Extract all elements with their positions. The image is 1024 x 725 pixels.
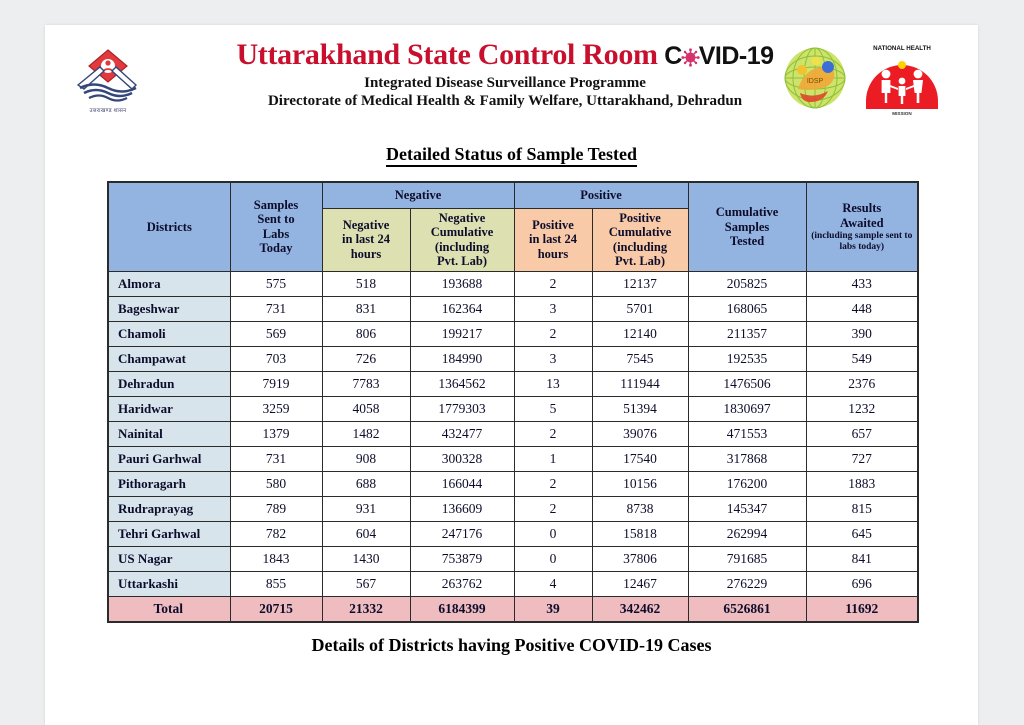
cell-pos24: 2 xyxy=(514,271,592,296)
cell-sent: 731 xyxy=(230,446,322,471)
cell-poscum: 12467 xyxy=(592,571,688,596)
cell-negcum: 193688 xyxy=(410,271,514,296)
cell-district: Haridwar xyxy=(108,396,230,421)
cell-neg24: 806 xyxy=(322,321,410,346)
col-header-results-awaited: Results Awaited (including sample sent t… xyxy=(806,182,918,271)
title-block: Uttarakhand State Control Room CVID-19 I… xyxy=(155,39,855,110)
total-cell-district: Total xyxy=(108,596,230,622)
cell-pos24: 2 xyxy=(514,421,592,446)
cell-sent: 703 xyxy=(230,346,322,371)
cell-district: Chamoli xyxy=(108,321,230,346)
cell-poscum: 5701 xyxy=(592,296,688,321)
cell-negcum: 432477 xyxy=(410,421,514,446)
col-header-negative-cumulative: Negative Cumulative (including Pvt. Lab) xyxy=(410,208,514,271)
table-row: Bageshwar73183116236435701168065448 xyxy=(108,296,918,321)
cell-negcum: 184990 xyxy=(410,346,514,371)
total-cell-awaited: 11692 xyxy=(806,596,918,622)
section-title: Detailed Status of Sample Tested xyxy=(45,144,978,165)
cell-awaited: 645 xyxy=(806,521,918,546)
table-row: Haridwar32594058177930355139418306971232 xyxy=(108,396,918,421)
cell-negcum: 1779303 xyxy=(410,396,514,421)
cell-cumtested: 1830697 xyxy=(688,396,806,421)
table-body: Almora575518193688212137205825433Bageshw… xyxy=(108,271,918,622)
total-cell-poscum: 342462 xyxy=(592,596,688,622)
cell-cumtested: 176200 xyxy=(688,471,806,496)
col-header-positive-cumulative: Positive Cumulative (including Pvt. Lab) xyxy=(592,208,688,271)
cell-pos24: 5 xyxy=(514,396,592,421)
col-header-cumulative-samples-tested: Cumulative Samples Tested xyxy=(688,182,806,271)
cell-sent: 731 xyxy=(230,296,322,321)
table-row: Pithoragarh5806881660442101561762001883 xyxy=(108,471,918,496)
cell-district: US Nagar xyxy=(108,546,230,571)
cell-sent: 569 xyxy=(230,321,322,346)
cell-pos24: 13 xyxy=(514,371,592,396)
cell-pos24: 0 xyxy=(514,546,592,571)
cell-neg24: 518 xyxy=(322,271,410,296)
page-title: Uttarakhand State Control Room CVID-19 xyxy=(155,39,855,71)
table-container: Districts Samples Sent to Labs Today Neg… xyxy=(45,181,978,623)
cell-awaited: 433 xyxy=(806,271,918,296)
col-header-positive-24h: Positive in last 24 hours xyxy=(514,208,592,271)
cell-sent: 1843 xyxy=(230,546,322,571)
cell-awaited: 657 xyxy=(806,421,918,446)
footer-section-title: Details of Districts having Positive COV… xyxy=(45,635,978,656)
cell-awaited: 1232 xyxy=(806,396,918,421)
cell-poscum: 39076 xyxy=(592,421,688,446)
cell-awaited: 727 xyxy=(806,446,918,471)
cell-neg24: 1430 xyxy=(322,546,410,571)
table-total-row: Total20715213326184399393424626526861116… xyxy=(108,596,918,622)
cell-negcum: 136609 xyxy=(410,496,514,521)
cell-sent: 789 xyxy=(230,496,322,521)
total-cell-sent: 20715 xyxy=(230,596,322,622)
cell-negcum: 162364 xyxy=(410,296,514,321)
table-row: Nainital13791482432477239076471553657 xyxy=(108,421,918,446)
cell-neg24: 931 xyxy=(322,496,410,521)
cell-poscum: 8738 xyxy=(592,496,688,521)
cell-district: Pauri Garhwal xyxy=(108,446,230,471)
cell-negcum: 300328 xyxy=(410,446,514,471)
cell-district: Tehri Garhwal xyxy=(108,521,230,546)
cell-poscum: 10156 xyxy=(592,471,688,496)
table-row: Pauri Garhwal731908300328117540317868727 xyxy=(108,446,918,471)
table-header-row-1: Districts Samples Sent to Labs Today Neg… xyxy=(108,182,918,208)
cell-awaited: 448 xyxy=(806,296,918,321)
cell-pos24: 4 xyxy=(514,571,592,596)
cell-poscum: 15818 xyxy=(592,521,688,546)
cell-poscum: 111944 xyxy=(592,371,688,396)
idsp-globe-logo: IDSP xyxy=(780,45,850,111)
cell-sent: 7919 xyxy=(230,371,322,396)
covid19-wordmark: CVID-19 xyxy=(658,42,774,70)
cell-negcum: 166044 xyxy=(410,471,514,496)
table-row: Almora575518193688212137205825433 xyxy=(108,271,918,296)
cell-neg24: 604 xyxy=(322,521,410,546)
cell-negcum: 263762 xyxy=(410,571,514,596)
cell-cumtested: 276229 xyxy=(688,571,806,596)
cell-district: Almora xyxy=(108,271,230,296)
cell-district: Uttarkashi xyxy=(108,571,230,596)
document-page: उत्तराखण्ड शासन Uttarakhand State Contro… xyxy=(45,25,978,725)
cell-negcum: 753879 xyxy=(410,546,514,571)
total-cell-negcum: 6184399 xyxy=(410,596,514,622)
cell-neg24: 4058 xyxy=(322,396,410,421)
cell-district: Bageshwar xyxy=(108,296,230,321)
cell-district: Champawat xyxy=(108,346,230,371)
cell-neg24: 726 xyxy=(322,346,410,371)
cell-poscum: 51394 xyxy=(592,396,688,421)
col-header-negative-24h: Negative in last 24 hours xyxy=(322,208,410,271)
cell-district: Rudraprayag xyxy=(108,496,230,521)
table-row: Chamoli569806199217212140211357390 xyxy=(108,321,918,346)
cell-negcum: 199217 xyxy=(410,321,514,346)
cell-pos24: 1 xyxy=(514,446,592,471)
cell-neg24: 688 xyxy=(322,471,410,496)
group-header-positive: Positive xyxy=(514,182,688,208)
uk-logo-caption: उत्तराखण्ड शासन xyxy=(70,106,146,114)
coronavirus-icon xyxy=(681,48,700,67)
national-health-mission-logo: NATIONAL HEALTH MISSION xyxy=(860,43,944,119)
cell-poscum: 7545 xyxy=(592,346,688,371)
table-row: Uttarkashi855567263762412467276229696 xyxy=(108,571,918,596)
cell-cumtested: 471553 xyxy=(688,421,806,446)
cell-neg24: 908 xyxy=(322,446,410,471)
table-row: US Nagar18431430753879037806791685841 xyxy=(108,546,918,571)
cell-cumtested: 211357 xyxy=(688,321,806,346)
cell-pos24: 2 xyxy=(514,471,592,496)
svg-text:IDSP: IDSP xyxy=(807,78,824,85)
cell-sent: 782 xyxy=(230,521,322,546)
table-row: Tehri Garhwal782604247176015818262994645 xyxy=(108,521,918,546)
total-cell-cumtested: 6526861 xyxy=(688,596,806,622)
cell-cumtested: 317868 xyxy=(688,446,806,471)
cell-poscum: 12140 xyxy=(592,321,688,346)
col-header-samples-sent: Samples Sent to Labs Today xyxy=(230,182,322,271)
uttarakhand-government-logo: उत्तराखण्ड शासन xyxy=(70,47,146,119)
cell-cumtested: 205825 xyxy=(688,271,806,296)
group-header-negative: Negative xyxy=(322,182,514,208)
cell-pos24: 2 xyxy=(514,321,592,346)
cell-cumtested: 168065 xyxy=(688,296,806,321)
cell-neg24: 7783 xyxy=(322,371,410,396)
cell-poscum: 17540 xyxy=(592,446,688,471)
cell-cumtested: 791685 xyxy=(688,546,806,571)
cell-awaited: 2376 xyxy=(806,371,918,396)
cell-awaited: 1883 xyxy=(806,471,918,496)
total-cell-pos24: 39 xyxy=(514,596,592,622)
cell-awaited: 390 xyxy=(806,321,918,346)
document-header: उत्तराखण्ड शासन Uttarakhand State Contro… xyxy=(45,25,978,130)
subtitle-programme: Integrated Disease Surveillance Programm… xyxy=(155,75,855,92)
col-header-results-awaited-note: (including sample sent to labs today) xyxy=(809,231,916,252)
cell-pos24: 3 xyxy=(514,296,592,321)
cell-awaited: 549 xyxy=(806,346,918,371)
subtitle-directorate: Directorate of Medical Health & Family W… xyxy=(155,93,855,110)
cell-sent: 575 xyxy=(230,271,322,296)
cell-sent: 855 xyxy=(230,571,322,596)
uttarakhand-emblem-icon xyxy=(70,47,146,105)
cell-awaited: 841 xyxy=(806,546,918,571)
table-head: Districts Samples Sent to Labs Today Neg… xyxy=(108,182,918,271)
table-row: Champawat70372618499037545192535549 xyxy=(108,346,918,371)
cell-negcum: 1364562 xyxy=(410,371,514,396)
cell-poscum: 12137 xyxy=(592,271,688,296)
cell-district: Pithoragarh xyxy=(108,471,230,496)
title-main-text: Uttarakhand State Control Room xyxy=(236,38,657,71)
cell-awaited: 696 xyxy=(806,571,918,596)
svg-text:MISSION: MISSION xyxy=(892,111,912,116)
cell-neg24: 1482 xyxy=(322,421,410,446)
cell-poscum: 37806 xyxy=(592,546,688,571)
cell-pos24: 2 xyxy=(514,496,592,521)
total-cell-neg24: 21332 xyxy=(322,596,410,622)
cell-sent: 3259 xyxy=(230,396,322,421)
cell-sent: 580 xyxy=(230,471,322,496)
cell-district: Dehradun xyxy=(108,371,230,396)
cell-cumtested: 1476506 xyxy=(688,371,806,396)
cell-sent: 1379 xyxy=(230,421,322,446)
cell-district: Nainital xyxy=(108,421,230,446)
sample-tested-table: Districts Samples Sent to Labs Today Neg… xyxy=(107,181,919,623)
cell-cumtested: 192535 xyxy=(688,346,806,371)
cell-neg24: 567 xyxy=(322,571,410,596)
col-header-districts: Districts xyxy=(108,182,230,271)
cell-cumtested: 262994 xyxy=(688,521,806,546)
cell-pos24: 3 xyxy=(514,346,592,371)
cell-negcum: 247176 xyxy=(410,521,514,546)
table-row: Rudraprayag78993113660928738145347815 xyxy=(108,496,918,521)
svg-text:NATIONAL HEALTH: NATIONAL HEALTH xyxy=(873,45,931,52)
cell-cumtested: 145347 xyxy=(688,496,806,521)
table-row: Dehradun79197783136456213111944147650623… xyxy=(108,371,918,396)
cell-neg24: 831 xyxy=(322,296,410,321)
cell-pos24: 0 xyxy=(514,521,592,546)
cell-awaited: 815 xyxy=(806,496,918,521)
